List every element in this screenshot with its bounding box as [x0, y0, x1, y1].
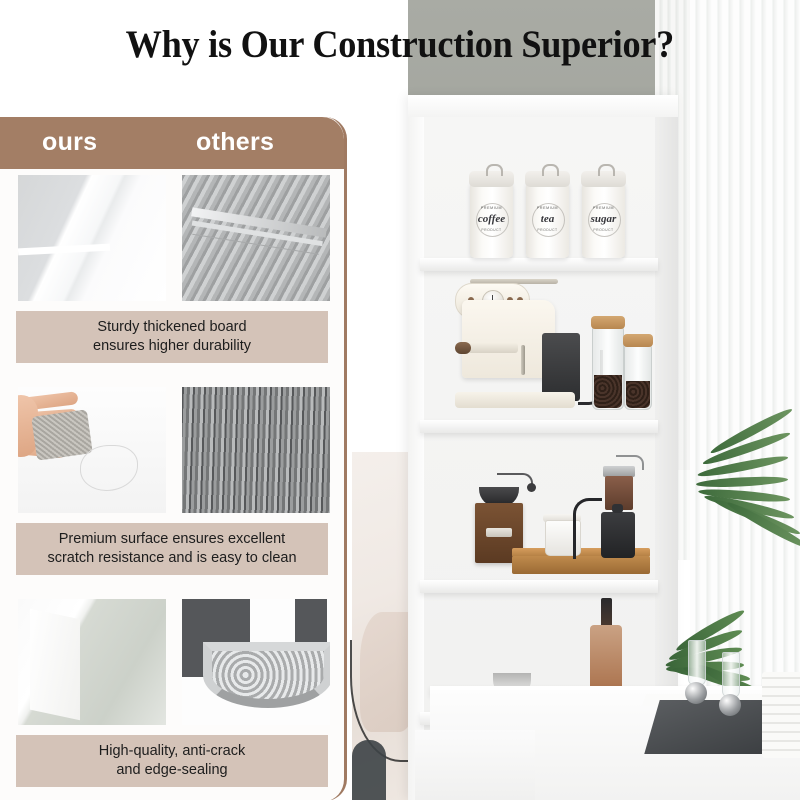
- ours-image-1: [18, 175, 166, 301]
- flute-ball-base: [719, 694, 741, 716]
- wall-art-dark-shape: [352, 740, 386, 800]
- shelf-divider-1: [420, 258, 658, 271]
- canister-handle: [486, 164, 503, 176]
- caption-3-line-1: High-quality, anti-crack: [99, 742, 245, 761]
- shelf-divider-3: [420, 580, 658, 593]
- caption-1-line-2: ensures higher durability: [93, 337, 251, 356]
- canister-label: coffee: [470, 213, 513, 225]
- grinder-drawer-plate: [486, 528, 512, 537]
- caption-2: Premium surface ensures excellent scratc…: [16, 523, 328, 575]
- canister-handle: [542, 164, 559, 176]
- cleaning-cloth: [31, 409, 93, 460]
- header-others-label: others: [196, 128, 274, 157]
- palm-leaf: [696, 475, 788, 489]
- canister-bottom-text: PRODUCT: [526, 228, 569, 232]
- liquor-bottle: [590, 625, 622, 695]
- espresso-bean-hopper: [542, 333, 580, 401]
- canister-coffee: PREMIUM coffee PRODUCT: [470, 180, 513, 258]
- hand-wiping-photo: [18, 387, 166, 513]
- canister-top-text: PREMIUM: [526, 206, 569, 210]
- coffee-beans: [626, 381, 650, 408]
- ours-image-2: [18, 387, 166, 513]
- peeling-edge-band: [203, 642, 330, 708]
- caption-3-line-2: and edge-sealing: [99, 761, 245, 780]
- canister-label: tea: [526, 213, 569, 225]
- peeling-edge-photo: [182, 599, 330, 725]
- bookcase-top: [408, 95, 678, 117]
- grinder-crank-knob: [527, 483, 536, 492]
- caption-1: Sturdy thickened board ensures higher du…: [16, 311, 328, 363]
- cork-lid: [591, 316, 625, 329]
- portafilter-arm: [468, 343, 518, 353]
- page-title: Why is Our Construction Superior?: [0, 22, 800, 67]
- canister-top-text: PREMIUM: [470, 206, 513, 210]
- header-ours-label: ours: [42, 128, 97, 157]
- wiped-mark: [80, 445, 138, 491]
- others-image-2: [182, 387, 330, 513]
- comparison-row-2: Premium surface ensures excellent scratc…: [0, 381, 344, 593]
- caption-2-line-2: scratch resistance and is easy to clean: [47, 549, 296, 568]
- caption-1-line-1: Sturdy thickened board: [93, 318, 251, 337]
- sealed-edge-photo: [18, 599, 166, 725]
- thin-boards-photo: [182, 175, 330, 301]
- canister-top-text: PREMIUM: [582, 206, 625, 210]
- espresso-drip-tray: [455, 392, 575, 408]
- bean-jar-small: [624, 344, 652, 410]
- shelf-divider-2: [420, 420, 658, 433]
- steam-wand: [521, 345, 525, 375]
- others-image-1: [182, 175, 330, 301]
- caption-3: High-quality, anti-crack and edge-sealin…: [16, 735, 328, 787]
- ours-image-3: [18, 599, 166, 725]
- ribbed-vase: [762, 672, 800, 758]
- canister-bottom-text: PRODUCT: [470, 228, 513, 232]
- gooseneck-spout: [573, 498, 602, 559]
- scratched-surface-photo: [182, 387, 330, 513]
- cork-lid: [623, 334, 653, 347]
- page-title-text: Why is Our Construction Superior?: [126, 22, 674, 67]
- bookcase-left-side: [408, 95, 424, 800]
- comparison-row-1: Sturdy thickened board ensures higher du…: [0, 169, 344, 381]
- bean-jar-large: [592, 326, 624, 410]
- champagne-flute: [722, 652, 740, 698]
- counter-front-panel: [415, 730, 535, 800]
- caption-2-line-1: Premium surface ensures excellent: [47, 530, 296, 549]
- others-image-3: [182, 599, 330, 725]
- canister-handle: [598, 164, 615, 176]
- comparison-row-3: High-quality, anti-crack and edge-sealin…: [0, 593, 344, 800]
- champagne-flute: [688, 640, 706, 686]
- comparison-header: ours others: [0, 117, 344, 169]
- black-kettle: [601, 512, 635, 558]
- canister-tea: PREMIUM tea PRODUCT: [526, 180, 569, 258]
- thick-board-photo: [18, 175, 166, 301]
- comparison-card: ours others Sturdy thickened board ensur…: [0, 117, 347, 800]
- canister-label: sugar: [582, 213, 625, 225]
- coffee-beans: [594, 375, 622, 408]
- canister-bottom-text: PRODUCT: [582, 228, 625, 232]
- canister-sugar: PREMIUM sugar PRODUCT: [582, 180, 625, 258]
- flute-ball-base: [685, 682, 707, 704]
- infographic-stage: PREMIUM coffee PRODUCT PREMIUM tea PRODU…: [0, 0, 800, 800]
